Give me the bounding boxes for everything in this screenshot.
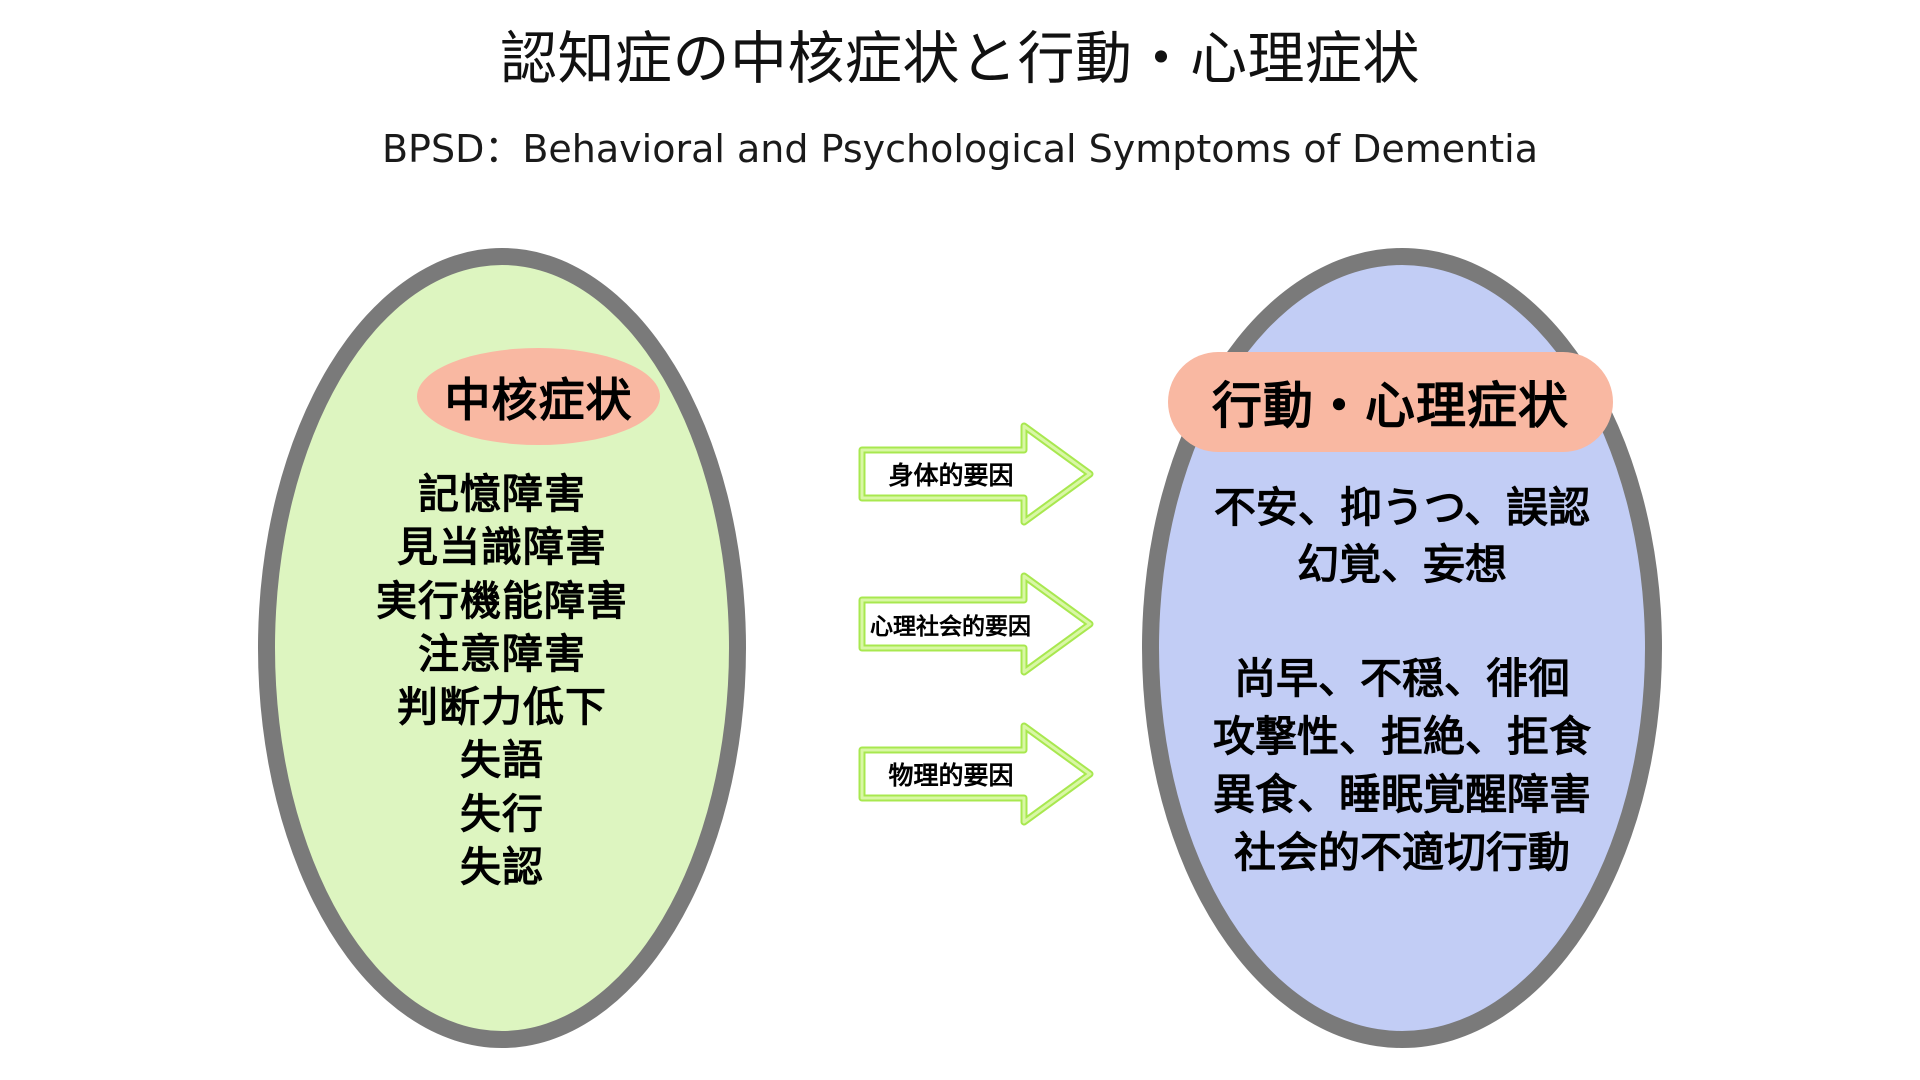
list-item: 幻覚、妄想 [1142, 537, 1662, 594]
list-item: 社会的不適切行動 [1136, 824, 1668, 882]
factor-arrow-physical-environment: 物理的要因 [856, 720, 1096, 828]
list-item: 失語 [258, 734, 746, 787]
list-item: 失認 [258, 841, 746, 894]
list-item: 異食、睡眠覚醒障害 [1136, 766, 1668, 824]
factor-arrow-psychosocial: 心理社会的要因 [856, 570, 1096, 678]
factor-arrows-group: 身体的要因 心理社会的要因 物理的要因 [856, 420, 1106, 840]
core-symptoms-label-pill: 中核症状 [417, 348, 660, 445]
core-symptoms-list: 記憶障害 見当識障害 実行機能障害 注意障害 判断力低下 失語 失行 失認 [258, 468, 746, 894]
page-subtitle: BPSD：Behavioral and Psychological Sympto… [0, 128, 1920, 172]
list-item: 判断力低下 [258, 681, 746, 734]
factor-arrow-label: 身体的要因 [856, 420, 1046, 528]
bpsd-behavioral-symptoms-list: 尚早、不穏、徘徊 攻撃性、拒絶、拒食 異食、睡眠覚醒障害 社会的不適切行動 [1136, 650, 1668, 882]
list-item: 失行 [258, 788, 746, 841]
factor-arrow-physical: 身体的要因 [856, 420, 1096, 528]
factor-arrow-label: 物理的要因 [856, 720, 1046, 828]
list-item: 注意障害 [258, 628, 746, 681]
list-item: 記憶障害 [258, 468, 746, 521]
core-symptoms-label: 中核症状 [445, 364, 633, 430]
list-item: 尚早、不穏、徘徊 [1136, 650, 1668, 708]
list-item: 攻撃性、拒絶、拒食 [1136, 708, 1668, 766]
list-item: 見当識障害 [258, 521, 746, 574]
list-item: 不安、抑うつ、誤認 [1142, 480, 1662, 537]
page-title: 認知症の中核症状と行動・心理症状 [0, 28, 1920, 91]
list-item: 実行機能障害 [258, 575, 746, 628]
factor-arrow-label: 心理社会的要因 [848, 570, 1053, 678]
bpsd-symptoms-label: 行動・心理症状 [1212, 366, 1569, 438]
bpsd-psychological-symptoms-list: 不安、抑うつ、誤認 幻覚、妄想 [1142, 480, 1662, 593]
bpsd-symptoms-label-pill: 行動・心理症状 [1168, 352, 1613, 452]
